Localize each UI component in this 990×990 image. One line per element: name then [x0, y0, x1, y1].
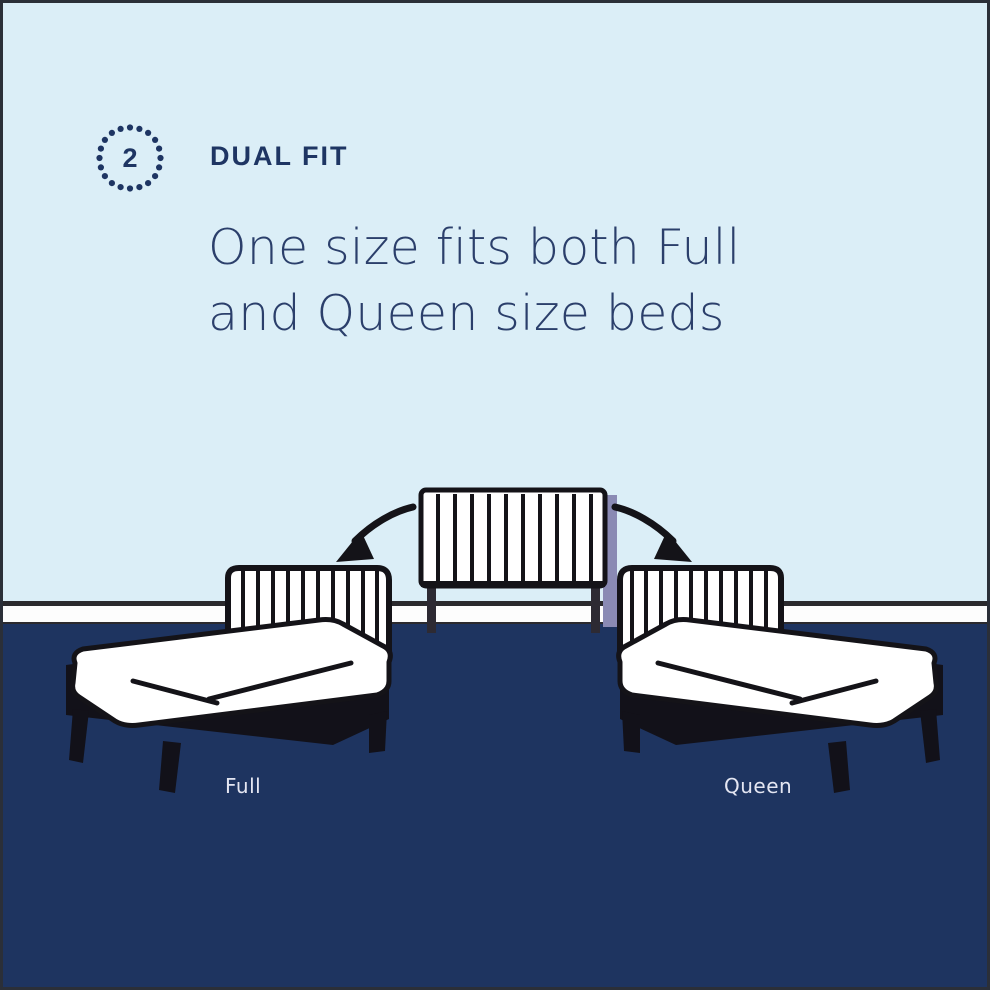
- queen-bed: [619, 568, 943, 793]
- full-bed: [66, 568, 390, 793]
- bedroom-illustration: [3, 3, 990, 990]
- full-bed-label: Full: [225, 774, 261, 798]
- queen-bed-label: Queen: [724, 774, 792, 798]
- arrow-to-full-bed: [336, 507, 413, 562]
- center-headboard: [421, 490, 617, 633]
- illustration-canvas: 2 DUAL FIT One size fits both Full and Q…: [0, 0, 990, 990]
- arrow-to-queen-bed: [615, 507, 692, 562]
